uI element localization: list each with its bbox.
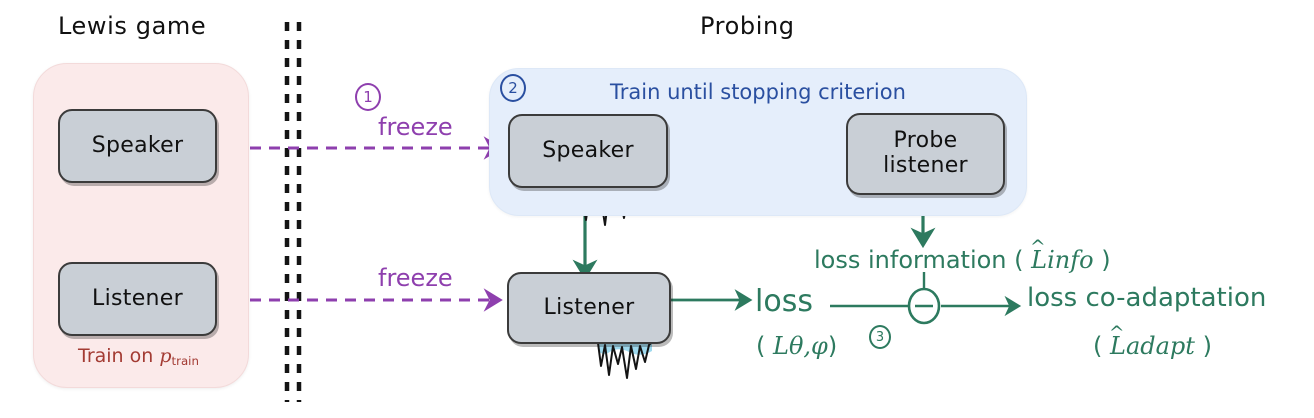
- probing-listener-label: Listener: [544, 296, 635, 321]
- loss-label: loss: [755, 284, 813, 319]
- loss-close-paren: ): [828, 332, 837, 360]
- loss-information-expression: loss information ( ^Linfo ): [814, 246, 1111, 274]
- probing-speaker-node[interactable]: Speaker: [508, 114, 668, 188]
- loss-information-open-paren: (: [1014, 246, 1023, 274]
- loss-coadaptation-symbol: ^L: [1110, 332, 1126, 360]
- loss-information-close-paren: ): [1101, 246, 1110, 274]
- lewis-speaker-node[interactable]: Speaker: [58, 109, 217, 183]
- probing-listener-node[interactable]: Listener: [507, 272, 671, 344]
- lewis-speaker-label: Speaker: [92, 134, 184, 159]
- loss-information-text: loss information: [814, 246, 1007, 274]
- page-title-lewis-game: Lewis game: [58, 12, 206, 40]
- lewis-listener-node[interactable]: Listener: [58, 262, 217, 336]
- loss-symbol: L: [773, 332, 789, 360]
- lewis-train-caption: Train on ptrain: [78, 345, 199, 368]
- lewis-train-caption-subscript: train: [172, 354, 199, 368]
- icicle-icon-listener: [598, 340, 652, 378]
- lewis-train-caption-prefix: Train on: [78, 345, 159, 367]
- step-badge-2: 2: [500, 74, 526, 102]
- loss-symbol-expression: ( Lθ,φ): [756, 332, 837, 360]
- lewis-listener-label: Listener: [92, 287, 183, 312]
- probing-banner-label: Train until stopping criterion: [610, 80, 906, 104]
- step-badge-1: 1: [355, 83, 381, 111]
- freeze-label-listener: freeze: [378, 264, 453, 292]
- dashed-divider-icon: [287, 22, 299, 402]
- lewis-train-caption-symbol: p: [159, 345, 171, 367]
- minus-circle-icon: [909, 289, 939, 323]
- loss-coadaptation-close-paren: ): [1203, 332, 1212, 360]
- freeze-label-speaker: freeze: [378, 113, 453, 141]
- loss-coadaptation-symbol-expression: ( ^Ladapt ): [1093, 332, 1212, 360]
- probing-speaker-label: Speaker: [542, 139, 634, 164]
- step-badge-3: 3: [869, 325, 891, 349]
- loss-subtraction-connector: [830, 272, 1017, 306]
- probe-listener-node[interactable]: Probe listener: [846, 113, 1005, 195]
- loss-coadaptation-open-paren: (: [1093, 332, 1102, 360]
- page-title-probing: Probing: [700, 12, 795, 40]
- loss-subscript: θ,φ: [789, 332, 828, 360]
- loss-information-subscript: info: [1047, 246, 1093, 274]
- probe-listener-label-line1: Probe: [894, 129, 958, 154]
- probe-listener-label-line2: listener: [883, 154, 968, 179]
- diagram-canvas: Lewis game Probing Speaker Listener Trai…: [0, 0, 1314, 418]
- loss-coadaptation-subscript: adapt: [1126, 332, 1195, 360]
- loss-open-paren: (: [756, 332, 765, 360]
- loss-coadaptation-label: loss co-adaptation: [1027, 283, 1266, 313]
- loss-information-symbol: ^L: [1031, 246, 1047, 274]
